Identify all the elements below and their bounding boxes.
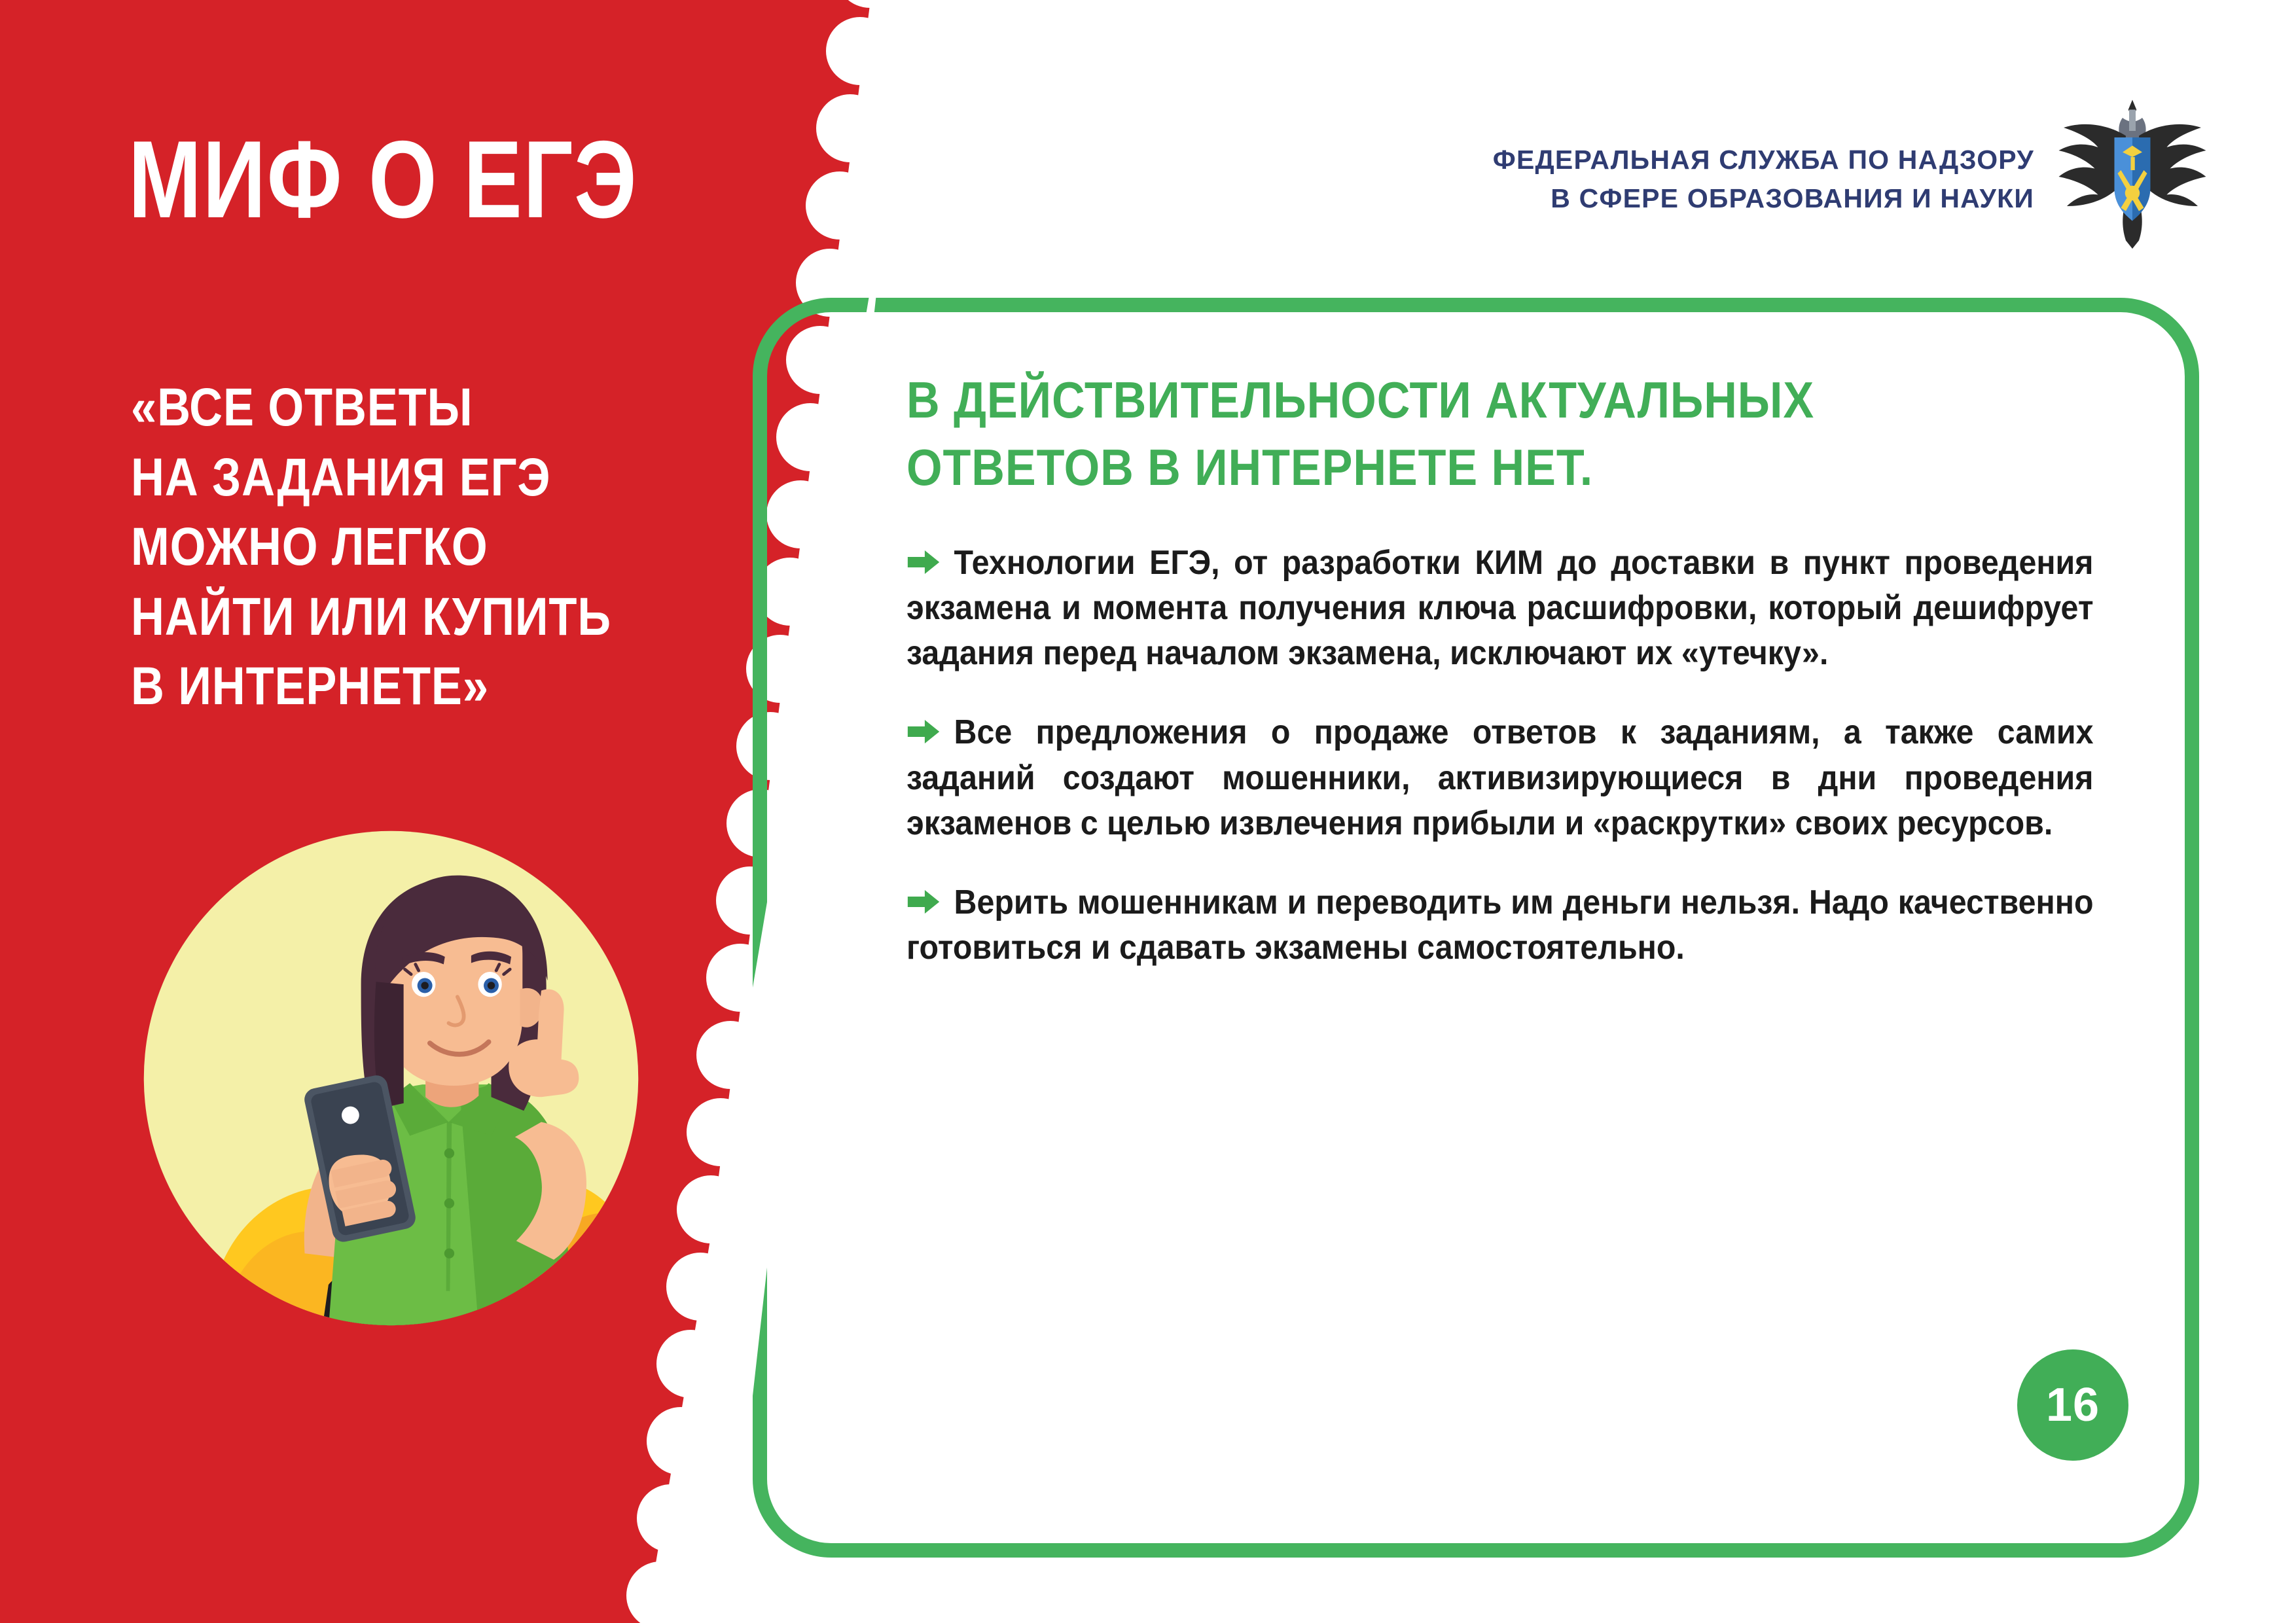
content-heading: В ДЕЙСТВИТЕЛЬНОСТИ АКТУАЛЬНЫХ ОТВЕТОВ В … xyxy=(906,366,2073,501)
bullet-text-3: Верить мошенникам и переводить им деньги… xyxy=(906,883,2094,967)
bullet-item-2: Все предложения о продаже ответов к зада… xyxy=(906,710,2094,846)
content-heading-line-1: В ДЕЙСТВИТЕЛЬНОСТИ АКТУАЛЬНЫХ xyxy=(906,366,2073,434)
myth-quote-line-3: МОЖНО ЛЕГКО xyxy=(131,512,611,582)
bullet-item-1: Технологии ЕГЭ, от разработки КИМ до дос… xyxy=(906,541,2094,676)
main-content: В ДЕЙСТВИТЕЛЬНОСТИ АКТУАЛЬНЫХ ОТВЕТОВ В … xyxy=(906,366,2202,1005)
bullet-text-2: Все предложения о продаже ответов к зада… xyxy=(906,713,2094,842)
myth-quote-line-5: В ИНТЕРНЕТЕ» xyxy=(131,652,611,722)
girl-with-smartphone-illustration xyxy=(141,828,641,1329)
green-right-arrow-icon xyxy=(906,542,941,568)
green-right-arrow-icon xyxy=(906,711,941,738)
page-title: МИФ О ЕГЭ xyxy=(128,128,637,232)
rosobrnadzor-eagle-emblem-icon xyxy=(2051,85,2214,249)
bullet-item-3: Верить мошенникам и переводить им деньги… xyxy=(906,880,2094,971)
myth-quote: «ВСЕ ОТВЕТЫ НА ЗАДАНИЯ ЕГЭ МОЖНО ЛЕГКО Н… xyxy=(131,373,611,722)
agency-title-line-1: ФЕДЕРАЛЬНАЯ СЛУЖБА ПО НАДЗОРУ xyxy=(1493,141,2034,179)
agency-title: ФЕДЕРАЛЬНАЯ СЛУЖБА ПО НАДЗОРУ В СФЕРЕ ОБ… xyxy=(1493,141,2034,219)
content-heading-line-2: ОТВЕТОВ В ИНТЕРНЕТЕ НЕТ. xyxy=(906,434,2073,501)
myth-quote-line-1: «ВСЕ ОТВЕТЫ xyxy=(131,373,611,443)
page-number-badge: 16 xyxy=(2017,1349,2128,1461)
agency-title-line-2: В СФЕРЕ ОБРАЗОВАНИЯ И НАУКИ xyxy=(1493,179,2034,218)
myth-quote-line-2: НА ЗАДАНИЯ ЕГЭ xyxy=(131,443,611,513)
poster-page: МИФ О ЕГЭ «ВСЕ ОТВЕТЫ НА ЗАДАНИЯ ЕГЭ МОЖ… xyxy=(0,0,2296,1623)
myth-quote-line-4: НАЙТИ ИЛИ КУПИТЬ xyxy=(131,582,611,652)
green-right-arrow-icon xyxy=(906,882,941,908)
bullet-text-1: Технологии ЕГЭ, от разработки КИМ до дос… xyxy=(906,544,2094,672)
